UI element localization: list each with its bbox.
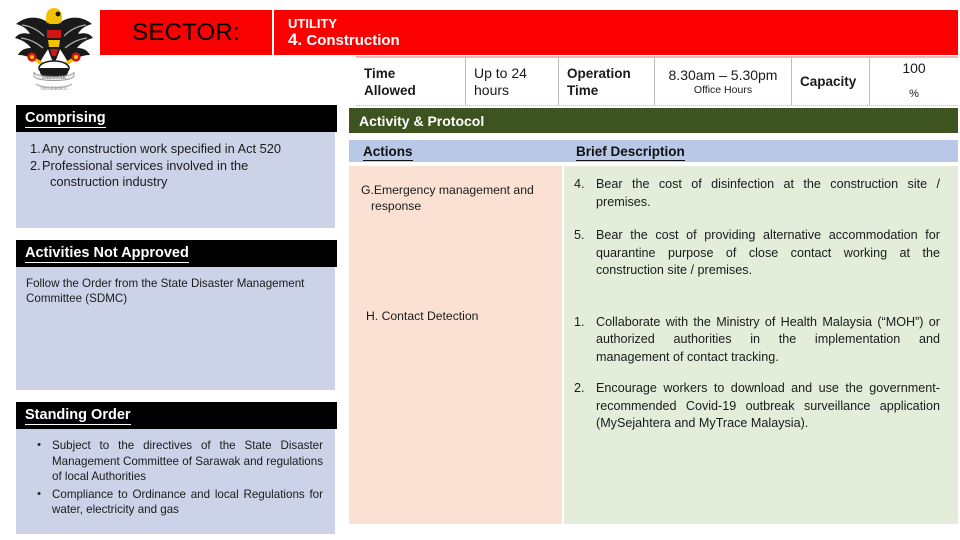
action-h-text: H. Contact Detection [366, 308, 554, 324]
activity-protocol-body: G.Emergency management andresponse H. Co… [349, 166, 958, 524]
description-h1-text: Collaborate with the Ministry of Health … [596, 314, 940, 367]
sector-header-bar: SECTOR: UTILITY 4. Construction [100, 10, 958, 55]
comprising-item2-text: Professional services involved in the co… [42, 158, 248, 191]
standing-order-item2: Compliance to Ordinance and local Regula… [52, 487, 325, 518]
description-h1-number: 1. [572, 314, 596, 367]
description-row-h2: 2. Encourage workers to download and use… [572, 380, 940, 433]
sector-category: UTILITY [288, 16, 958, 31]
panel-comprising-title: Comprising [16, 105, 337, 132]
panel-standing-order: Standing Order • Subject to the directiv… [16, 402, 335, 534]
sarawak-coat-of-arms-icon: SARAWAK NEGERIKU [10, 2, 98, 94]
action-g-line1: Emergency management and [374, 183, 534, 197]
panel-activities-not-approved: Activities Not Approved Follow the Order… [16, 240, 335, 390]
comprising-item2-line2: construction industry [42, 174, 167, 191]
description-column: 4. Bear the cost of disinfection at the … [562, 166, 958, 524]
capacity-label: Capacity [792, 58, 870, 105]
action-g-text: G.Emergency management andresponse [361, 182, 554, 214]
comprising-item1-number: 1. [30, 141, 42, 158]
actions-column: G.Emergency management andresponse H. Co… [349, 166, 562, 524]
list-item: 2. Professional services involved in the… [26, 158, 325, 191]
operation-time-label-line1: Operation [567, 65, 646, 82]
standing-order-list: • Subject to the directives of the State… [26, 438, 325, 518]
action-g-prefix: G. [361, 183, 374, 197]
sector-name-text: Construction [302, 32, 400, 49]
description-g4-text: Bear the cost of disinfection at the con… [596, 176, 940, 211]
activity-protocol-banner: Activity & Protocol [349, 108, 958, 133]
sector-name: 4. Construction [288, 31, 958, 49]
comprising-item2-number: 2. [30, 158, 42, 191]
time-allowed-value: Up to 24 hours [466, 58, 559, 105]
panel-comprising: Comprising 1. Any construction work spec… [16, 105, 335, 228]
capacity-value: 100 [902, 60, 925, 77]
description-g4-number: 4. [572, 176, 596, 211]
comprising-item1-text: Any construction work specified in Act 5… [42, 141, 281, 158]
description-g5-text: Bear the cost of providing alternative a… [596, 227, 940, 280]
description-g5-number: 5. [572, 227, 596, 280]
operation-time-value: 8.30am – 5.30pm Office Hours [655, 58, 792, 105]
slide-root: SARAWAK NEGERIKU SECTOR: UTILITY 4. Cons… [0, 0, 960, 540]
panel-standing-order-title: Standing Order [16, 402, 337, 429]
panel-activities-not-approved-title: Activities Not Approved [16, 240, 337, 267]
operation-time-label: Operation Time [559, 58, 655, 105]
description-h2-text: Encourage workers to download and use th… [596, 380, 940, 433]
sector-number: 4. [288, 30, 302, 49]
time-allowed-label-line1: Time [364, 65, 457, 82]
list-item: 1. Any construction work specified in Ac… [26, 141, 325, 158]
list-item: • Compliance to Ordinance and local Regu… [26, 487, 325, 518]
column-header-brief-description: Brief Description [564, 144, 958, 159]
svg-text:NEGERIKU: NEGERIKU [40, 86, 68, 92]
operation-time-label-line2: Time [567, 82, 646, 99]
sector-label: SECTOR: [100, 10, 274, 55]
description-row-h1: 1. Collaborate with the Ministry of Heal… [572, 314, 940, 367]
description-row-g4: 4. Bear the cost of disinfection at the … [572, 176, 940, 211]
operation-time-sub: Office Hours [694, 84, 752, 97]
list-item: • Subject to the directives of the State… [26, 438, 325, 485]
column-header-actions: Actions [349, 144, 564, 159]
action-g-line2: response [361, 198, 554, 214]
capacity-unit: % [909, 86, 919, 103]
bullet-icon: • [26, 487, 52, 518]
comprising-item2-line1: Professional services involved in the [42, 158, 248, 173]
action-row-g: G.Emergency management andresponse [361, 182, 554, 214]
time-allowed-label: Time Allowed [356, 58, 466, 105]
not-approved-text: Follow the Order from the State Disaster… [26, 276, 325, 306]
svg-text:SARAWAK: SARAWAK [42, 76, 67, 81]
panel-comprising-body: 1. Any construction work specified in Ac… [16, 132, 335, 228]
standing-order-item1: Subject to the directives of the State D… [52, 438, 325, 485]
capacity-value-cell: 100 % [870, 58, 958, 105]
info-table: Time Allowed Up to 24 hours Operation Ti… [356, 56, 958, 106]
description-row-g5: 5. Bear the cost of providing alternativ… [572, 227, 940, 280]
panel-activities-not-approved-body: Follow the Order from the State Disaster… [16, 267, 335, 390]
operation-time-range: 8.30am – 5.30pm [669, 67, 778, 84]
time-allowed-label-line2: Allowed [364, 82, 457, 99]
time-allowed-value-line2: hours [474, 82, 550, 99]
description-h2-number: 2. [572, 380, 596, 433]
comprising-list: 1. Any construction work specified in Ac… [26, 141, 325, 191]
bullet-icon: • [26, 438, 52, 485]
activity-protocol-column-headers: Actions Brief Description [349, 140, 958, 162]
panel-standing-order-body: • Subject to the directives of the State… [16, 429, 335, 534]
sector-value: UTILITY 4. Construction [274, 10, 958, 55]
time-allowed-value-line1: Up to 24 [474, 65, 550, 82]
action-row-h: H. Contact Detection [361, 308, 554, 324]
